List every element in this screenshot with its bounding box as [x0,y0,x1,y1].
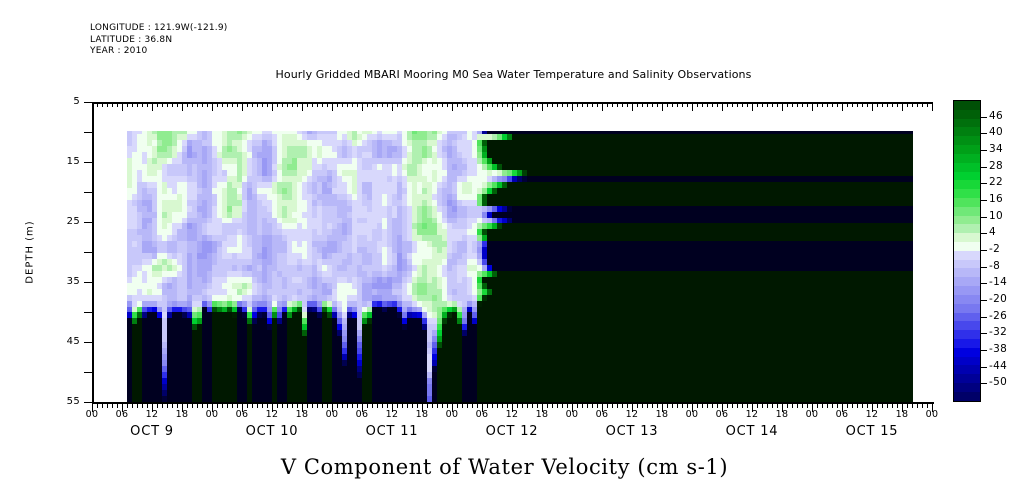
colorbar-band [954,260,980,269]
x-axis-hour-label: 18 [407,409,437,420]
colorbar-label: 34 [989,143,1003,155]
x-axis-minor-tick [907,102,908,107]
x-axis-minor-tick [187,102,188,107]
x-axis-minor-tick [102,403,103,408]
x-axis-minor-tick [167,403,168,408]
x-axis-minor-tick [852,403,853,408]
x-axis-minor-tick [322,403,323,408]
x-axis-minor-tick [222,403,223,408]
x-axis-minor-tick [202,102,203,107]
x-axis-minor-tick [822,102,823,107]
colorbar-band [954,136,980,145]
x-axis-minor-tick [687,102,688,107]
x-axis-minor-tick [282,102,283,107]
x-axis-minor-tick [777,102,778,107]
x-axis-minor-tick [232,102,233,107]
year-text: YEAR : 2010 [90,46,228,58]
x-axis-hour-label: 18 [767,409,797,420]
x-axis-major-tick [152,102,153,111]
x-axis-day-label: OCT 13 [567,424,697,439]
colorbar-band [954,110,980,119]
x-axis-minor-tick [772,102,773,107]
x-axis-minor-tick [822,403,823,408]
x-axis-minor-tick [707,403,708,408]
colorbar-band [954,242,980,251]
x-axis-minor-tick [372,403,373,408]
x-axis-hour-label: 00 [917,409,947,420]
x-axis-minor-tick [462,102,463,107]
x-axis-minor-tick [742,102,743,107]
colorbar-label: 46 [989,110,1003,122]
longitude-text: LONGITUDE : 121.9W(-121.9) [90,23,228,35]
x-axis-hour-label: 12 [857,409,887,420]
x-axis-minor-tick [487,102,488,107]
colorbar-band [954,357,980,366]
x-axis-minor-tick [402,403,403,408]
x-axis-major-tick [842,102,843,111]
x-axis-minor-tick [342,102,343,107]
latitude-text: LATITUDE : 36.8N [90,35,228,47]
colorbar-tick [980,250,987,251]
x-axis-minor-tick [597,102,598,107]
colorbar-label: -20 [989,293,1007,305]
x-axis-minor-tick [642,403,643,408]
x-axis-minor-tick [307,403,308,408]
x-axis-minor-tick [382,403,383,408]
x-axis-minor-tick [832,403,833,408]
x-axis-major-tick [272,102,273,111]
x-axis-minor-tick [857,403,858,408]
colorbar-tick [980,167,987,168]
x-axis-hour-label: 18 [647,409,677,420]
x-axis-hour-label: 00 [77,409,107,420]
x-axis-minor-tick [472,403,473,408]
x-axis-minor-tick [677,403,678,408]
x-axis-minor-tick [527,102,528,107]
x-axis-hour-label: 06 [587,409,617,420]
x-axis-minor-tick [777,403,778,408]
x-axis-minor-tick [357,102,358,107]
x-axis-minor-tick [867,403,868,408]
x-axis-hour-label: 06 [107,409,137,420]
colorbar-band [954,374,980,383]
x-axis-minor-tick [862,102,863,107]
x-axis-minor-tick [667,403,668,408]
colorbar-band [954,268,980,277]
x-axis-minor-tick [207,403,208,408]
x-axis-minor-tick [277,102,278,107]
x-axis-major-tick [662,102,663,111]
colorbar-band [954,348,980,357]
x-axis-minor-tick [337,102,338,107]
x-axis-minor-tick [697,102,698,107]
figure-caption: V Component of Water Velocity (cm s-1) [0,455,1009,479]
colorbar-band [954,339,980,348]
colorbar-band [954,295,980,304]
x-axis-minor-tick [757,403,758,408]
x-axis-minor-tick [767,102,768,107]
x-axis-minor-tick [367,403,368,408]
x-axis-minor-tick [157,403,158,408]
x-axis-minor-tick [447,102,448,107]
x-axis-minor-tick [897,102,898,107]
colorbar-tick [980,317,987,318]
x-axis-minor-tick [547,403,548,408]
x-axis-minor-tick [507,102,508,107]
y-axis-title: DEPTH (m) [25,220,36,283]
x-axis-hour-label: 00 [677,409,707,420]
x-axis-minor-tick [162,403,163,408]
x-axis-minor-tick [847,403,848,408]
x-axis-minor-tick [577,102,578,107]
x-axis-minor-tick [142,102,143,107]
x-axis-minor-tick [837,102,838,107]
colorbar-tick [980,233,987,234]
x-axis-minor-tick [802,403,803,408]
x-axis-minor-tick [617,403,618,408]
x-axis-hour-label: 06 [707,409,737,420]
x-axis-minor-tick [882,403,883,408]
colorbar-band [954,392,980,401]
x-axis-minor-tick [477,102,478,107]
x-axis-minor-tick [267,403,268,408]
x-axis-hour-label: 18 [527,409,557,420]
x-axis-minor-tick [587,102,588,107]
y-axis-tick [84,342,92,343]
x-axis-minor-tick [172,102,173,107]
x-axis-minor-tick [612,403,613,408]
colorbar-tick [980,300,987,301]
x-axis-minor-tick [327,102,328,107]
x-axis-minor-tick [652,403,653,408]
colorbar-band [954,321,980,330]
colorbar-band [954,163,980,172]
x-axis-major-tick [632,102,633,111]
x-axis-major-tick [392,102,393,111]
x-axis-minor-tick [262,102,263,107]
colorbar-band [954,304,980,313]
x-axis-minor-tick [377,403,378,408]
x-axis-major-tick [422,102,423,111]
colorbar-tick [980,333,987,334]
x-axis-minor-tick [457,102,458,107]
x-axis-minor-tick [252,403,253,408]
colorbar-tick [980,367,987,368]
x-axis-minor-tick [502,403,503,408]
x-axis-minor-tick [412,403,413,408]
x-axis-minor-tick [287,102,288,107]
x-axis-major-tick [902,102,903,111]
colorbar-tick [980,350,987,351]
x-axis-minor-tick [127,102,128,107]
colorbar-label: 16 [989,193,1003,205]
x-axis-minor-tick [372,102,373,107]
y-axis-label: 25 [44,216,80,227]
colorbar-label: 28 [989,160,1003,172]
x-axis-hour-label: 18 [287,409,317,420]
x-axis-minor-tick [387,102,388,107]
x-axis-minor-tick [702,403,703,408]
x-axis-minor-tick [292,102,293,107]
x-axis-minor-tick [582,403,583,408]
x-axis-minor-tick [177,403,178,408]
x-axis-minor-tick [927,403,928,408]
x-axis-minor-tick [247,403,248,408]
x-axis-minor-tick [407,403,408,408]
colorbar-band [954,189,980,198]
x-axis-minor-tick [307,102,308,107]
x-axis-minor-tick [267,102,268,107]
x-axis-minor-tick [537,403,538,408]
x-axis-minor-tick [227,403,228,408]
x-axis-minor-tick [687,403,688,408]
x-axis-minor-tick [737,403,738,408]
x-axis-hour-label: 12 [257,409,287,420]
x-axis-minor-tick [97,102,98,107]
x-axis-minor-tick [882,102,883,107]
x-axis-minor-tick [197,102,198,107]
x-axis-minor-tick [767,403,768,408]
colorbar-label: 10 [989,210,1003,222]
x-axis-minor-tick [567,102,568,107]
x-axis-minor-tick [192,403,193,408]
x-axis-minor-tick [712,102,713,107]
colorbar-label: -26 [989,310,1007,322]
colorbar-tick [980,217,987,218]
heatmap-field [125,131,922,402]
x-axis-minor-tick [187,403,188,408]
colorbar-band [954,101,980,110]
x-axis-minor-tick [217,102,218,107]
colorbar-band [954,207,980,216]
x-axis-minor-tick [547,102,548,107]
x-axis-minor-tick [202,403,203,408]
colorbar-label: -8 [989,260,1000,272]
x-axis-minor-tick [742,403,743,408]
colorbar-band [954,313,980,322]
x-axis-major-tick [362,102,363,111]
x-axis-minor-tick [147,102,148,107]
x-axis-minor-tick [727,403,728,408]
x-axis-minor-tick [442,403,443,408]
x-axis-minor-tick [762,102,763,107]
x-axis-minor-tick [117,102,118,107]
x-axis-minor-tick [617,102,618,107]
colorbar-band [954,172,980,181]
x-axis-minor-tick [802,102,803,107]
x-axis-minor-tick [907,403,908,408]
x-axis-minor-tick [642,102,643,107]
x-axis-minor-tick [762,403,763,408]
x-axis-minor-tick [792,403,793,408]
x-axis-minor-tick [262,403,263,408]
x-axis-minor-tick [622,102,623,107]
x-axis-minor-tick [487,403,488,408]
x-axis-minor-tick [472,102,473,107]
x-axis-minor-tick [207,102,208,107]
x-axis-minor-tick [852,102,853,107]
x-axis-minor-tick [467,102,468,107]
x-axis-minor-tick [787,403,788,408]
x-axis-minor-tick [377,102,378,107]
colorbar-band [954,180,980,189]
x-axis-minor-tick [352,102,353,107]
x-axis-minor-tick [247,102,248,107]
x-axis-minor-tick [492,403,493,408]
x-axis-minor-tick [647,403,648,408]
y-axis-tick [84,192,92,193]
x-axis-minor-tick [552,403,553,408]
x-axis-minor-tick [447,403,448,408]
x-axis-minor-tick [127,403,128,408]
x-axis-minor-tick [892,102,893,107]
x-axis-minor-tick [517,403,518,408]
x-axis-minor-tick [112,403,113,408]
x-axis-hour-label: 00 [797,409,827,420]
x-axis-minor-tick [132,102,133,107]
x-axis-minor-tick [787,102,788,107]
x-axis-hour-label: 06 [467,409,497,420]
colorbar-label: 40 [989,126,1003,138]
x-axis-minor-tick [162,102,163,107]
x-axis-major-tick [332,102,333,111]
x-axis-minor-tick [597,403,598,408]
x-axis-minor-tick [317,403,318,408]
x-axis-day-label: OCT 9 [87,424,217,439]
x-axis-minor-tick [562,403,563,408]
colorbar-band [954,383,980,392]
x-axis-hour-label: 12 [377,409,407,420]
colorbar-label: -14 [989,276,1007,288]
x-axis-minor-tick [312,403,313,408]
x-axis-minor-tick [637,403,638,408]
x-axis-minor-tick [927,102,928,107]
colorbar-label: -44 [989,360,1007,372]
x-axis-minor-tick [337,403,338,408]
x-axis-minor-tick [412,102,413,107]
x-axis-major-tick [512,102,513,111]
x-axis-minor-tick [282,403,283,408]
x-axis-hour-label: 12 [737,409,767,420]
x-axis-minor-tick [637,102,638,107]
x-axis-major-tick [932,102,933,111]
x-axis-minor-tick [217,403,218,408]
y-axis-tick [84,282,92,283]
x-axis-minor-tick [807,102,808,107]
colorbar-label: -2 [989,243,1000,255]
x-axis-minor-tick [667,102,668,107]
x-axis-minor-tick [357,403,358,408]
x-axis-minor-tick [467,403,468,408]
x-axis-major-tick [212,102,213,111]
x-axis-minor-tick [817,102,818,107]
x-axis-minor-tick [137,102,138,107]
x-axis-minor-tick [497,102,498,107]
colorbar-tick [980,183,987,184]
y-axis-tick [84,162,92,163]
x-axis-minor-tick [647,102,648,107]
x-axis-day-label: OCT 11 [327,424,457,439]
x-axis-minor-tick [652,102,653,107]
x-axis-minor-tick [562,102,563,107]
heatmap-canvas [125,131,922,402]
x-axis-major-tick [782,102,783,111]
x-axis-major-tick [812,102,813,111]
x-axis-minor-tick [442,102,443,107]
x-axis-minor-tick [682,403,683,408]
x-axis-major-tick [572,102,573,111]
x-axis-minor-tick [427,403,428,408]
x-axis-minor-tick [462,403,463,408]
x-axis-minor-tick [317,102,318,107]
x-axis-major-tick [482,102,483,111]
x-axis-minor-tick [117,403,118,408]
x-axis-minor-tick [132,403,133,408]
x-axis-minor-tick [297,102,298,107]
x-axis-minor-tick [657,102,658,107]
x-axis-minor-tick [792,102,793,107]
x-axis-minor-tick [797,403,798,408]
x-axis-minor-tick [397,102,398,107]
x-axis-minor-tick [892,403,893,408]
y-axis-label: 35 [44,276,80,287]
x-axis-minor-tick [732,102,733,107]
x-axis-minor-tick [147,403,148,408]
x-axis-minor-tick [367,102,368,107]
x-axis-major-tick [602,102,603,111]
x-axis-minor-tick [697,403,698,408]
x-axis-minor-tick [532,102,533,107]
x-axis-minor-tick [157,102,158,107]
x-axis-minor-tick [747,102,748,107]
x-axis-minor-tick [682,102,683,107]
metadata-block: LONGITUDE : 121.9W(-121.9) LATITUDE : 36… [90,23,228,58]
x-axis-minor-tick [522,403,523,408]
x-axis-minor-tick [137,403,138,408]
x-axis-hour-label: 18 [167,409,197,420]
x-axis-minor-tick [342,403,343,408]
colorbar-band [954,286,980,295]
x-axis-minor-tick [897,403,898,408]
x-axis-minor-tick [917,102,918,107]
colorbar-band [954,330,980,339]
x-axis-minor-tick [347,403,348,408]
x-axis-minor-tick [712,403,713,408]
x-axis-minor-tick [737,102,738,107]
x-axis-minor-tick [497,403,498,408]
y-axis-tick [84,222,92,223]
x-axis-major-tick [182,102,183,111]
x-axis-minor-tick [627,102,628,107]
x-axis-minor-tick [142,403,143,408]
x-axis-day-label: OCT 12 [447,424,577,439]
plot-title-text: Hourly Gridded MBARI Mooring M0 Sea Wate… [276,68,752,81]
x-axis-minor-tick [557,102,558,107]
y-axis-label: 55 [44,396,80,407]
x-axis-minor-tick [437,403,438,408]
x-axis-minor-tick [382,102,383,107]
x-axis-minor-tick [312,102,313,107]
x-axis-hour-label: 00 [557,409,587,420]
x-axis-minor-tick [517,102,518,107]
x-axis-minor-tick [222,102,223,107]
y-axis-label: 5 [44,96,80,107]
colorbar-band [954,251,980,260]
x-axis-minor-tick [537,102,538,107]
x-axis-minor-tick [847,102,848,107]
x-axis-minor-tick [747,403,748,408]
x-axis-day-label: OCT 10 [207,424,337,439]
